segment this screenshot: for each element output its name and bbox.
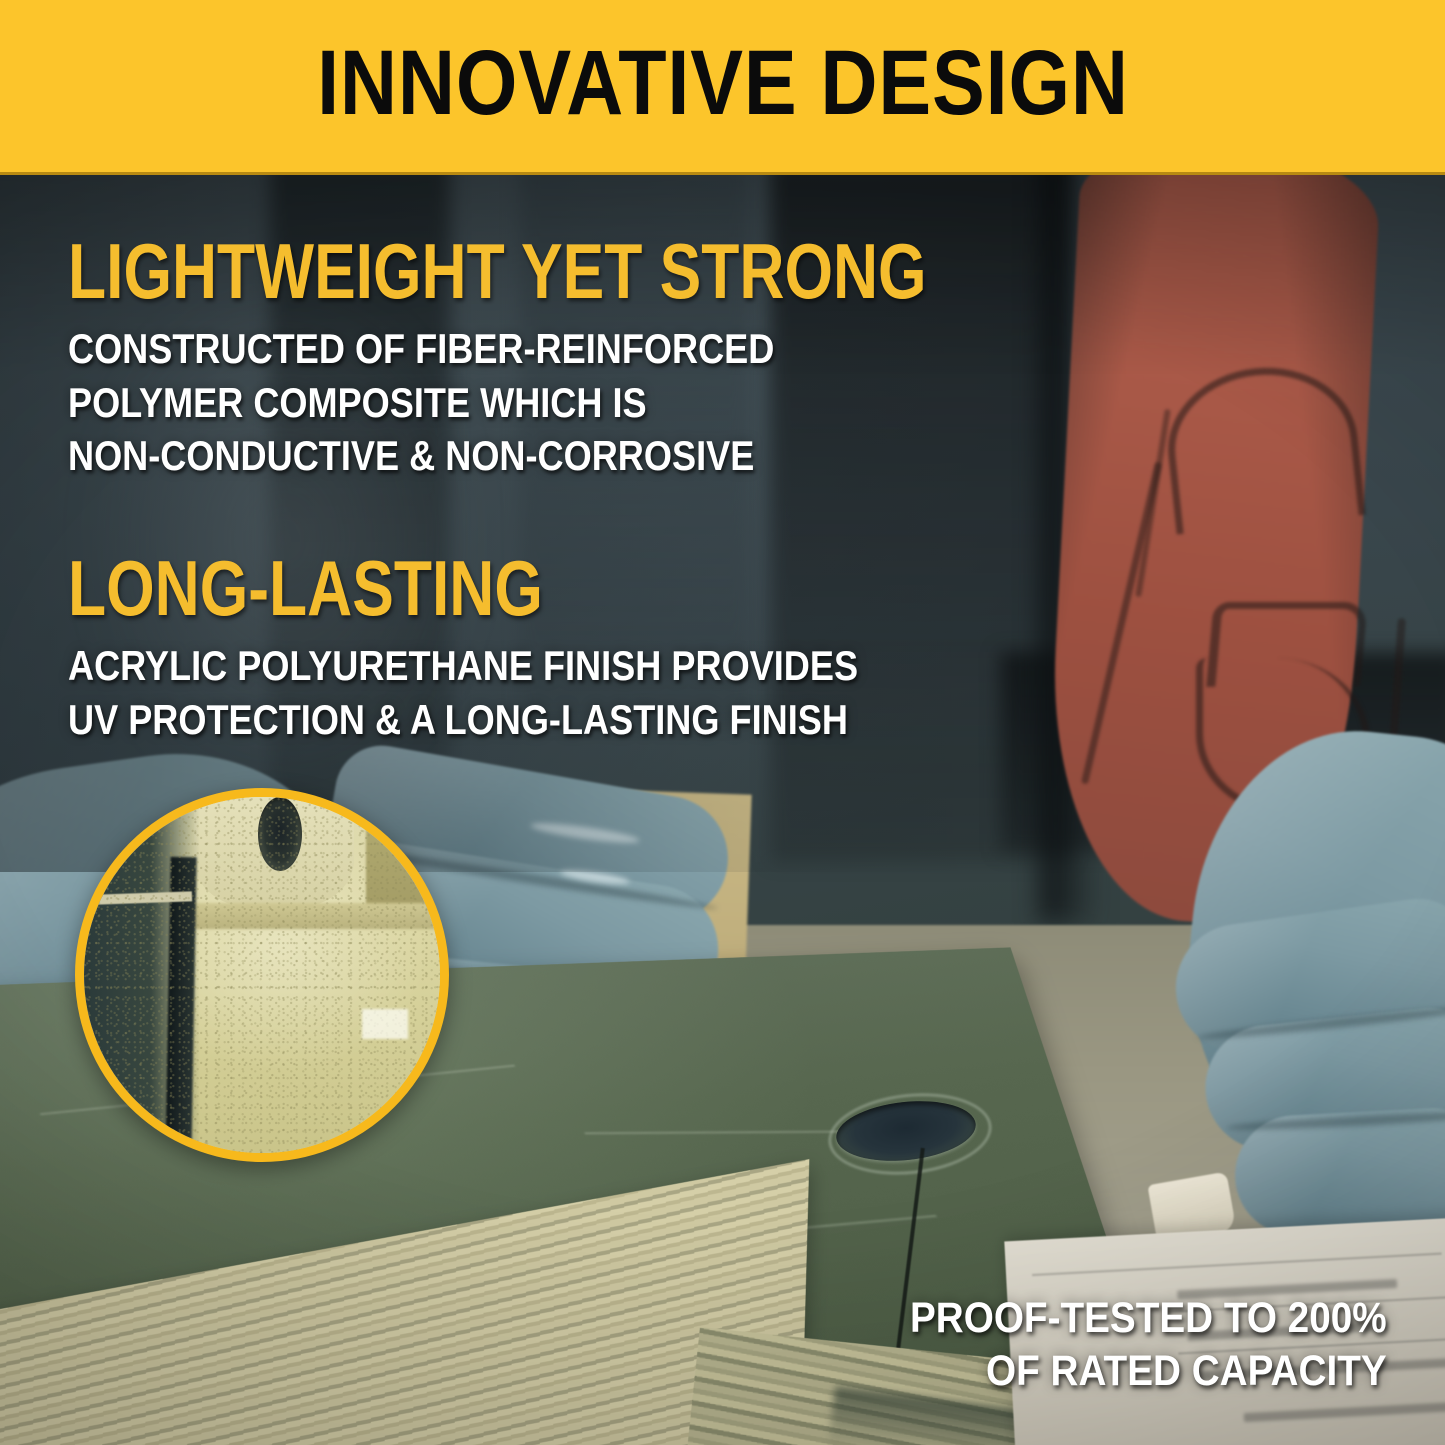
feature-block-lightweight: LIGHTWEIGHT YET STRONG CONSTRUCTED OF FI… [68, 236, 1068, 483]
feature-body: CONSTRUCTED OF FIBER-REINFORCED POLYMER … [68, 322, 928, 483]
board-scratch [585, 1131, 866, 1135]
proof-test-footnote: PROOF-TESTED TO 200% OF RATED CAPACITY [910, 1292, 1387, 1397]
document-rule [1032, 1253, 1442, 1276]
footnote-line: OF RATED CAPACITY [986, 1347, 1387, 1395]
feature-body: ACRYLIC POLYURETHANE FINISH PROVIDES UV … [68, 639, 928, 747]
header-banner: INNOVATIVE DESIGN [0, 0, 1445, 175]
feature-body-line: ACRYLIC POLYURETHANE FINISH PROVIDES [68, 642, 858, 689]
document-field-line [1244, 1401, 1445, 1422]
feature-body-line: UV PROTECTION & A LONG-LASTING FINISH [68, 696, 848, 743]
feature-headline: LONG-LASTING [68, 553, 868, 625]
feature-headline: LIGHTWEIGHT YET STRONG [68, 236, 868, 308]
callout-label-sticker [362, 1009, 408, 1039]
footnote-line: PROOF-TESTED TO 200% [910, 1294, 1387, 1342]
banner-title: INNOVATIVE DESIGN [317, 37, 1129, 135]
feature-body-line: NON-CONDUCTIVE & NON-CORROSIVE [68, 432, 754, 479]
callout-texture-grain [84, 797, 440, 1153]
feature-copy-group: LIGHTWEIGHT YET STRONG CONSTRUCTED OF FI… [68, 236, 1068, 746]
product-feature-poster: INNOVATIVE DESIGN LIGHTWEIGHT YET STRONG… [0, 0, 1445, 1445]
feature-block-long-lasting: LONG-LASTING ACRYLIC POLYURETHANE FINISH… [68, 553, 1068, 746]
feature-body-line: POLYMER COMPOSITE WHICH IS [68, 379, 647, 426]
callout-surface [84, 797, 440, 1153]
feature-body-line: CONSTRUCTED OF FIBER-REINFORCED [68, 325, 774, 372]
finish-detail-callout [75, 788, 449, 1162]
